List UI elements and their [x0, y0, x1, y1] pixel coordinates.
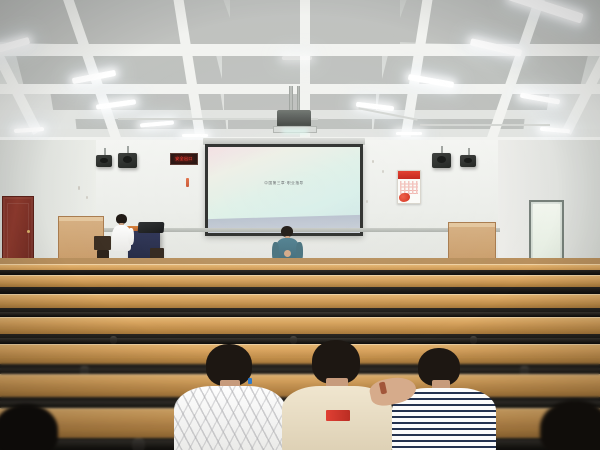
bench-rail	[0, 312, 600, 316]
seating-row	[0, 317, 600, 343]
wall-speaker	[460, 155, 476, 167]
desk-top	[0, 344, 600, 358]
led-exit-sign-text: 安全出口	[175, 156, 193, 162]
speaker-cone	[123, 156, 133, 163]
ceiling-light	[396, 132, 422, 135]
wall-mark	[366, 200, 368, 203]
fire-equipment-marker	[186, 178, 189, 187]
poster-header	[398, 171, 420, 179]
desk-front	[0, 357, 600, 364]
seating-row	[0, 344, 600, 374]
hands	[284, 250, 291, 257]
projector-lens-glow	[282, 129, 308, 134]
bench-back	[0, 287, 600, 294]
door-handle[interactable]	[27, 230, 30, 233]
lecture-hall-photo: 中国第三章·职业指导 安全出口	[0, 0, 600, 450]
ceiling-conduit	[420, 124, 550, 126]
wall-speaker	[96, 155, 112, 167]
wall-mark	[372, 160, 374, 163]
wall-speaker	[118, 153, 137, 168]
cabinet-top	[59, 217, 103, 221]
speaker-cone	[464, 158, 472, 164]
head	[540, 400, 600, 450]
seating-row	[0, 294, 600, 316]
seating-row	[0, 258, 600, 274]
rail-knob	[132, 438, 145, 450]
desk-top	[0, 374, 600, 390]
front-chair	[94, 236, 111, 250]
speaker-cone	[100, 158, 108, 164]
wall-poster	[397, 170, 421, 204]
ceiling-projector	[277, 110, 311, 127]
rail-knob	[470, 336, 477, 344]
bench-rail	[0, 338, 600, 343]
shirt-pattern	[174, 386, 286, 450]
ceiling-coffer	[230, 0, 400, 48]
podium-emblem	[138, 244, 150, 256]
wall-mark	[78, 186, 80, 190]
ceiling	[0, 0, 600, 148]
cabinet-top	[449, 223, 495, 227]
arm	[128, 228, 134, 245]
ceiling-light	[282, 56, 312, 60]
projector-mount-pole	[297, 86, 300, 112]
podium-equipment	[138, 222, 165, 233]
wall-mark	[382, 170, 384, 173]
wall-mark	[86, 196, 88, 199]
speaker-cone	[437, 156, 447, 163]
projection-screen-surface: 中国第三章·职业指导	[208, 147, 360, 233]
slide-title-text: 中国第三章·职业指导	[208, 181, 360, 186]
ceiling-coffer	[0, 0, 242, 50]
wall-speaker	[432, 153, 451, 168]
phone	[248, 378, 252, 384]
rail-knob	[290, 336, 297, 344]
ceiling-light	[182, 134, 208, 137]
shirt-logo	[326, 410, 350, 421]
led-exit-sign: 安全出口	[170, 153, 198, 165]
rail-knob	[110, 336, 117, 344]
projection-screen: 中国第三章·职业指导	[205, 144, 363, 236]
poster-calendar-grid	[400, 181, 418, 194]
projector-mount-pole	[289, 86, 293, 112]
poster-graphic	[399, 193, 410, 202]
seating-row	[0, 275, 600, 293]
